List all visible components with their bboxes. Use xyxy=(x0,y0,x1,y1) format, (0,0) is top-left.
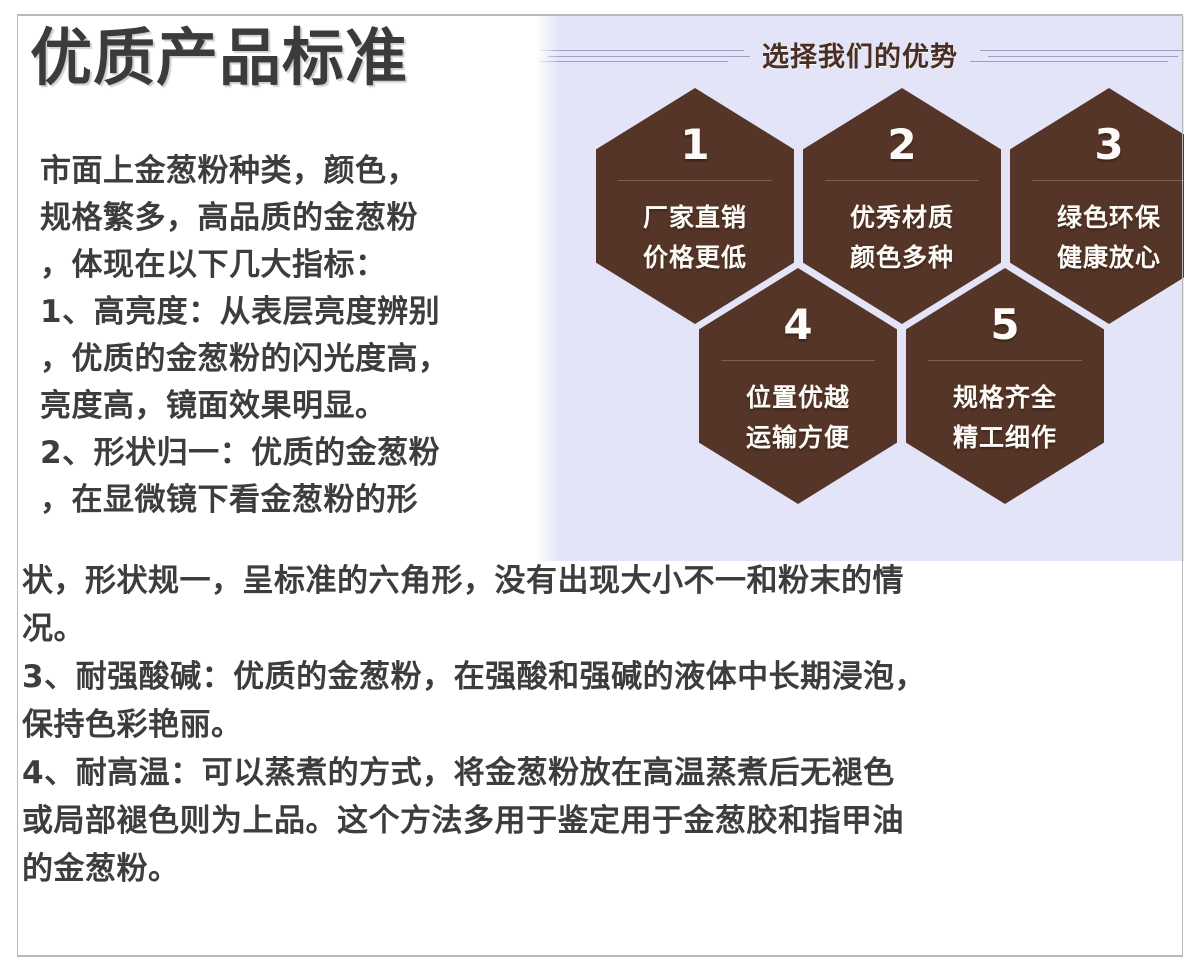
advantage-number: 3 xyxy=(1010,124,1184,166)
advantage-line-1: 优秀材质 xyxy=(803,198,1001,234)
hexagon-grid: 1 厂家直销 价格更低 2 优秀材质 颜色多种 3 绿色环保 健康放心 4 位 xyxy=(536,16,1184,561)
advantage-line-2: 运输方便 xyxy=(699,418,897,454)
advantage-divider xyxy=(1032,180,1184,181)
advantage-line-1: 位置优越 xyxy=(699,378,897,414)
point-line: ，在显微镜下看金葱粉的形 xyxy=(40,477,540,524)
advantage-line-2: 价格更低 xyxy=(596,238,794,274)
advantage-divider xyxy=(721,360,875,361)
advantage-divider xyxy=(618,180,772,181)
left-text-column: 优质产品标准 市面上金葱粉种类，颜色， 规格繁多，高品质的金葱粉 ，体现在以下几… xyxy=(18,15,538,563)
point-line: 1、高亮度：从表层亮度辨别 xyxy=(40,289,540,336)
point-line: 状，形状规一，呈标准的六角形，没有出现大小不一和粉末的情 xyxy=(22,557,1182,605)
intro-line: 市面上金葱粉种类，颜色， xyxy=(40,148,540,195)
advantage-line-1: 规格齐全 xyxy=(906,378,1104,414)
advantage-number: 2 xyxy=(803,124,1001,166)
advantages-panel: 选择我们的优势 1 厂家直销 价格更低 2 优秀材质 颜色多种 3 绿色环 xyxy=(536,16,1184,561)
advantage-number: 1 xyxy=(596,124,794,166)
point-line: 4、耐高温：可以蒸煮的方式，将金葱粉放在高温蒸煮后无褪色 xyxy=(22,749,1182,797)
advantage-line-1: 厂家直销 xyxy=(596,198,794,234)
advantage-line-1: 绿色环保 xyxy=(1010,198,1184,234)
point-line: 亮度高，镜面效果明显。 xyxy=(40,383,540,430)
advantage-hexagon-5: 5 规格齐全 精工细作 xyxy=(906,268,1104,504)
advantage-number: 4 xyxy=(699,304,897,346)
point-line: 保持色彩艳丽。 xyxy=(22,701,1182,749)
advantage-hexagon-1: 1 厂家直销 价格更低 xyxy=(596,88,794,324)
intro-line: 规格繁多，高品质的金葱粉 xyxy=(40,195,540,242)
points-bottom: 状，形状规一，呈标准的六角形，没有出现大小不一和粉末的情 况。 3、耐强酸碱：优… xyxy=(22,557,1182,893)
advantage-divider xyxy=(825,180,979,181)
advantage-line-2: 颜色多种 xyxy=(803,238,1001,274)
advantage-number: 5 xyxy=(906,304,1104,346)
advantage-line-2: 精工细作 xyxy=(906,418,1104,454)
point-line: 2、形状归一：优质的金葱粉 xyxy=(40,430,540,477)
point-line: 或局部褪色则为上品。这个方法多用于鉴定用于金葱胶和指甲油 xyxy=(22,797,1182,845)
intro-and-points-top: 市面上金葱粉种类，颜色， 规格繁多，高品质的金葱粉 ，体现在以下几大指标： 1、… xyxy=(40,148,540,524)
point-line: ，优质的金葱粉的闪光度高， xyxy=(40,336,540,383)
point-line: 的金葱粉。 xyxy=(22,845,1182,893)
page-title: 优质产品标准 xyxy=(30,25,408,90)
advantage-hexagon-4: 4 位置优越 运输方便 xyxy=(699,268,897,504)
advantage-line-2: 健康放心 xyxy=(1010,238,1184,274)
point-line: 况。 xyxy=(22,605,1182,653)
intro-line: ，体现在以下几大指标： xyxy=(40,242,540,289)
point-line: 3、耐强酸碱：优质的金葱粉，在强酸和强碱的液体中长期浸泡， xyxy=(22,653,1182,701)
advantage-divider xyxy=(928,360,1082,361)
product-standard-banner: 选择我们的优势 1 厂家直销 价格更低 2 优秀材质 颜色多种 3 绿色环 xyxy=(0,0,1200,970)
advantage-hexagon-2: 2 优秀材质 颜色多种 xyxy=(803,88,1001,324)
